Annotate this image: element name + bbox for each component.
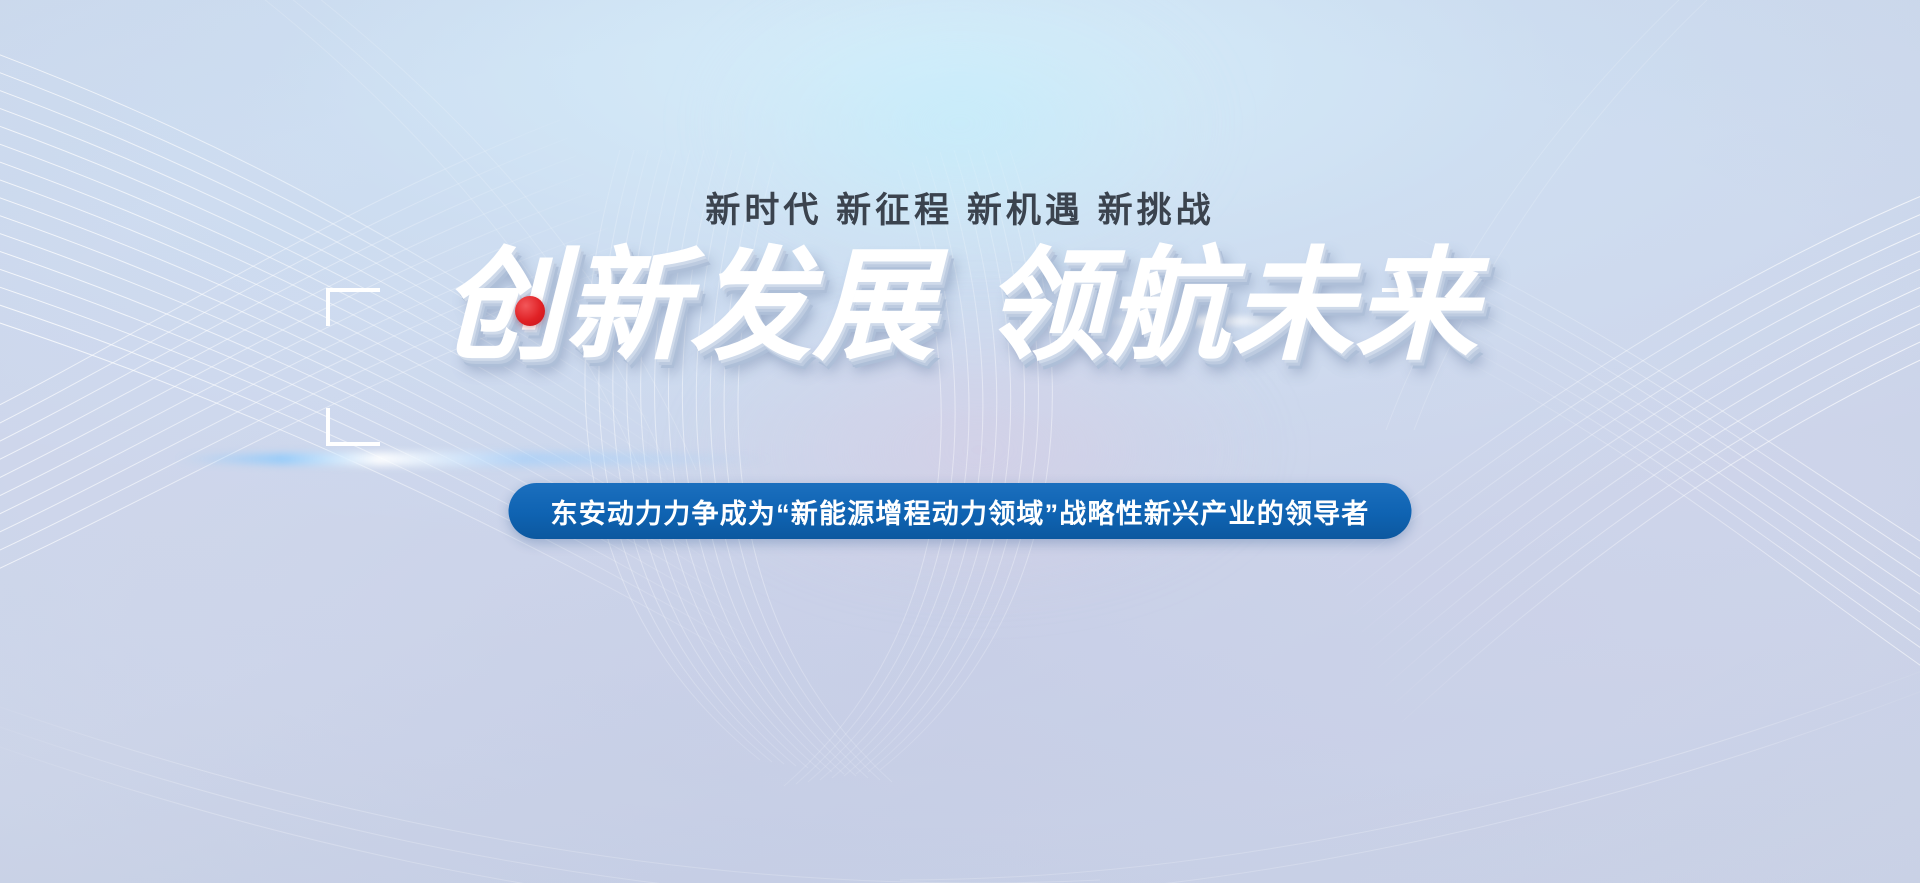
banner-kicker: 新时代 新征程 新机遇 新挑战 [0, 182, 1920, 233]
slogan-pill-text: 东安动力力争成为“新能源增程动力领域”战略性新兴产业的领导者 [551, 492, 1370, 531]
banner-canvas: 新时代 新征程 新机遇 新挑战 创新发展领航未来 东安动力力争成为“新能源增程动… [0, 0, 1920, 883]
banner-headline: 创新发展领航未来 [441, 245, 1479, 367]
slogan-pill: 东安动力力争成为“新能源增程动力领域”战略性新兴产业的领导者 [509, 483, 1412, 539]
headline-right: 领航未来 [983, 238, 1479, 374]
headline-container: 创新发展领航未来 [0, 236, 1920, 376]
corner-bracket-bottom-left-icon [326, 408, 380, 446]
red-dot-accent-icon [515, 296, 545, 326]
banner-content: 新时代 新征程 新机遇 新挑战 创新发展领航未来 东安动力力争成为“新能源增程动… [0, 0, 1920, 883]
